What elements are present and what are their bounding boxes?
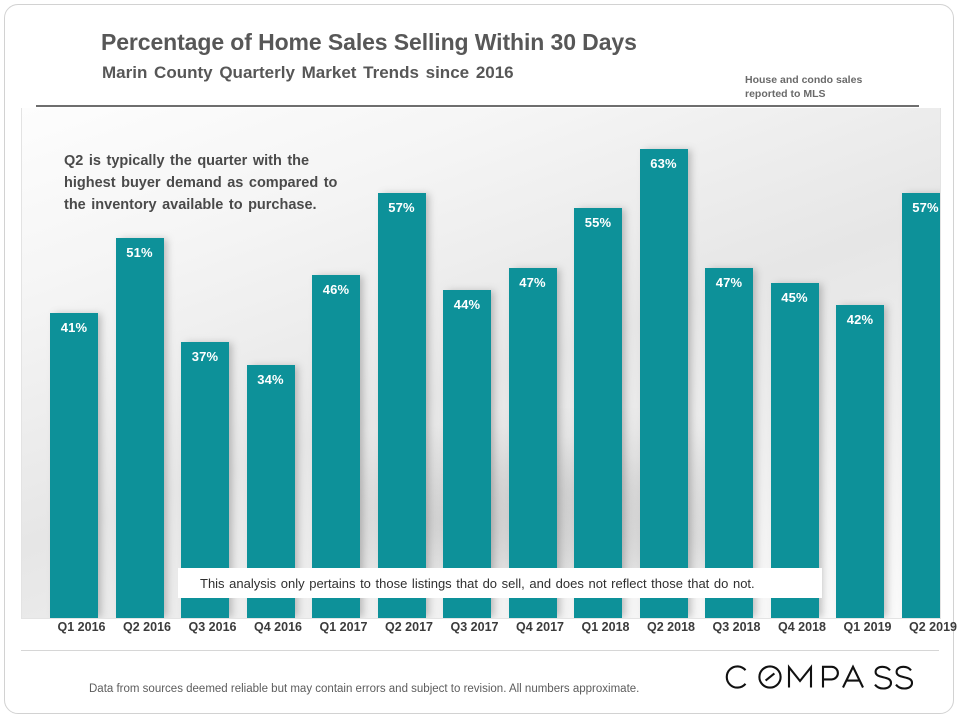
chart-subtitle: Marin County Quarterly Market Trends sin…	[102, 63, 514, 83]
bar[interactable]: 42%	[836, 305, 884, 618]
bar-value-label: 46%	[312, 282, 360, 297]
bar[interactable]: 47%	[705, 268, 753, 618]
x-axis-tick-label: Q2 2016	[115, 620, 180, 634]
bar[interactable]: 57%	[378, 193, 426, 618]
chart-header: Percentage of Home Sales Selling Within …	[5, 5, 953, 105]
bar[interactable]: 46%	[312, 275, 360, 618]
bar-value-label: 63%	[640, 156, 688, 171]
x-axis-tick-label: Q1 2016	[49, 620, 114, 634]
source-note-line-1: House and condo sales	[745, 73, 925, 87]
bar-value-label: 51%	[116, 245, 164, 260]
x-axis-tick-label: Q4 2016	[246, 620, 311, 634]
page-title: Percentage of Home Sales Selling Within …	[101, 29, 637, 56]
compass-logo	[723, 660, 913, 694]
bar-value-label: 37%	[181, 349, 229, 364]
bar[interactable]: 51%	[116, 238, 164, 618]
bar[interactable]: 63%	[640, 149, 688, 618]
x-axis-tick-label: Q2 2017	[377, 620, 442, 634]
header-divider	[36, 105, 919, 107]
axis-divider	[21, 650, 939, 651]
chart-card: Percentage of Home Sales Selling Within …	[4, 4, 954, 714]
x-axis-tick-label: Q2 2018	[639, 620, 704, 634]
bar[interactable]: 47%	[509, 268, 557, 618]
bar-value-label: 55%	[574, 215, 622, 230]
bar-value-label: 57%	[902, 200, 942, 215]
x-axis-tick-label: Q1 2019	[835, 620, 900, 634]
x-axis-tick-label: Q1 2018	[573, 620, 638, 634]
bar-value-label: 45%	[771, 290, 819, 305]
bar-value-label: 42%	[836, 312, 884, 327]
x-axis-tick-label: Q3 2016	[180, 620, 245, 634]
bar[interactable]: 55%	[574, 208, 622, 618]
bar-value-label: 44%	[443, 297, 491, 312]
disclaimer-banner: This analysis only pertains to those lis…	[178, 568, 822, 598]
source-note-line-2: reported to MLS	[745, 87, 925, 101]
x-axis-tick-label: Q3 2018	[704, 620, 769, 634]
x-axis-tick-label: Q3 2017	[442, 620, 507, 634]
source-note: House and condo sales reported to MLS	[745, 73, 925, 101]
bar[interactable]: 57%	[902, 193, 942, 618]
plot-area: 41%51%37%34%46%57%44%47%55%63%47%45%42%5…	[21, 108, 941, 619]
bar-value-label: 47%	[705, 275, 753, 290]
x-axis-tick-label: Q4 2017	[508, 620, 573, 634]
bar-value-label: 41%	[50, 320, 98, 335]
x-axis-tick-label: Q2 2019	[901, 620, 960, 634]
footer-note: Data from sources deemed reliable but ma…	[89, 683, 639, 695]
x-axis-tick-label: Q4 2018	[770, 620, 835, 634]
x-axis-labels: Q1 2016Q2 2016Q3 2016Q4 2016Q1 2017Q2 20…	[21, 620, 939, 646]
bar[interactable]: 41%	[50, 313, 98, 618]
bar-value-label: 47%	[509, 275, 557, 290]
bar-value-label: 57%	[378, 200, 426, 215]
bar-value-label: 34%	[247, 372, 295, 387]
x-axis-tick-label: Q1 2017	[311, 620, 376, 634]
callout-annotation: Q2 is typically the quarter with the hig…	[64, 150, 364, 216]
